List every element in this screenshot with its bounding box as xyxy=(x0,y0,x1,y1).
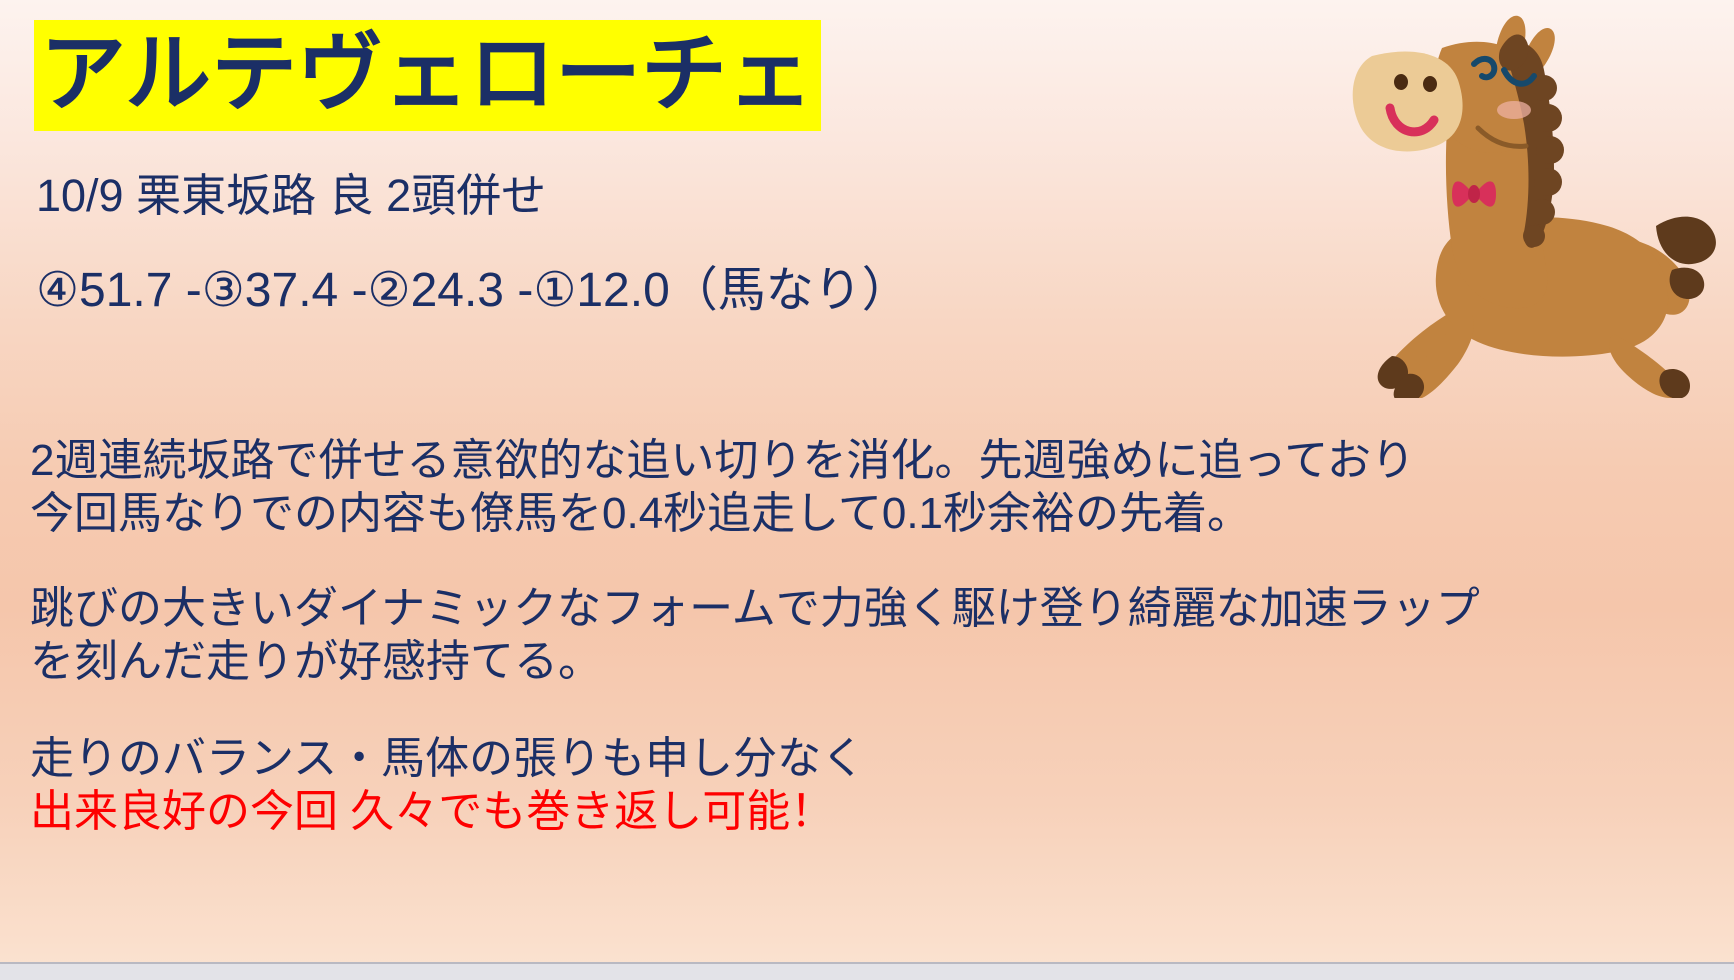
paragraph-line: 跳びの大きいダイナミックなフォームで力強く駆け登り綺麗な加速ラップ xyxy=(30,583,1480,636)
paragraph-line: 走りのバランス・馬体の張りも申し分なく xyxy=(30,733,865,786)
running-horse-icon xyxy=(1196,8,1734,398)
page-title: アルテヴェローチェ xyxy=(34,20,821,131)
comment-paragraph-3: 走りのバランス・馬体の張りも申し分なく 出来良好の今回 久々でも巻き返し可能！ xyxy=(30,733,865,839)
horse-artwork xyxy=(1353,16,1716,398)
paragraph-line: 2週連続坂路で併せる意欲的な追い切りを消化。先週強めに追っており xyxy=(30,435,1415,488)
paragraph-line: 今回馬なりでの内容も僚馬を0.4秒追走して0.1秒余裕の先着。 xyxy=(30,488,1415,541)
slide-canvas: アルテヴェローチェ 10/9 栗東坂路 良 2頭併せ ④51.7 -③37.4 … xyxy=(0,0,1734,980)
lap-times-line: ④51.7 -③37.4 -②24.3 -①12.0（馬なり） xyxy=(36,262,910,321)
workout-summary-line: 10/9 栗東坂路 良 2頭併せ xyxy=(36,168,546,224)
comment-paragraph-1: 2週連続坂路で併せる意欲的な追い切りを消化。先週強めに追っており 今回馬なりでの… xyxy=(30,435,1415,541)
paragraph-line: を刻んだ走りが好感持てる。 xyxy=(30,636,1480,689)
slide-bottom-strip xyxy=(0,962,1734,980)
title-container: アルテヴェローチェ xyxy=(34,20,821,131)
comment-paragraph-2: 跳びの大きいダイナミックなフォームで力強く駆け登り綺麗な加速ラップ を刻んだ走り… xyxy=(30,583,1480,689)
paragraph-line-emphasis: 出来良好の今回 久々でも巻き返し可能！ xyxy=(30,786,865,839)
